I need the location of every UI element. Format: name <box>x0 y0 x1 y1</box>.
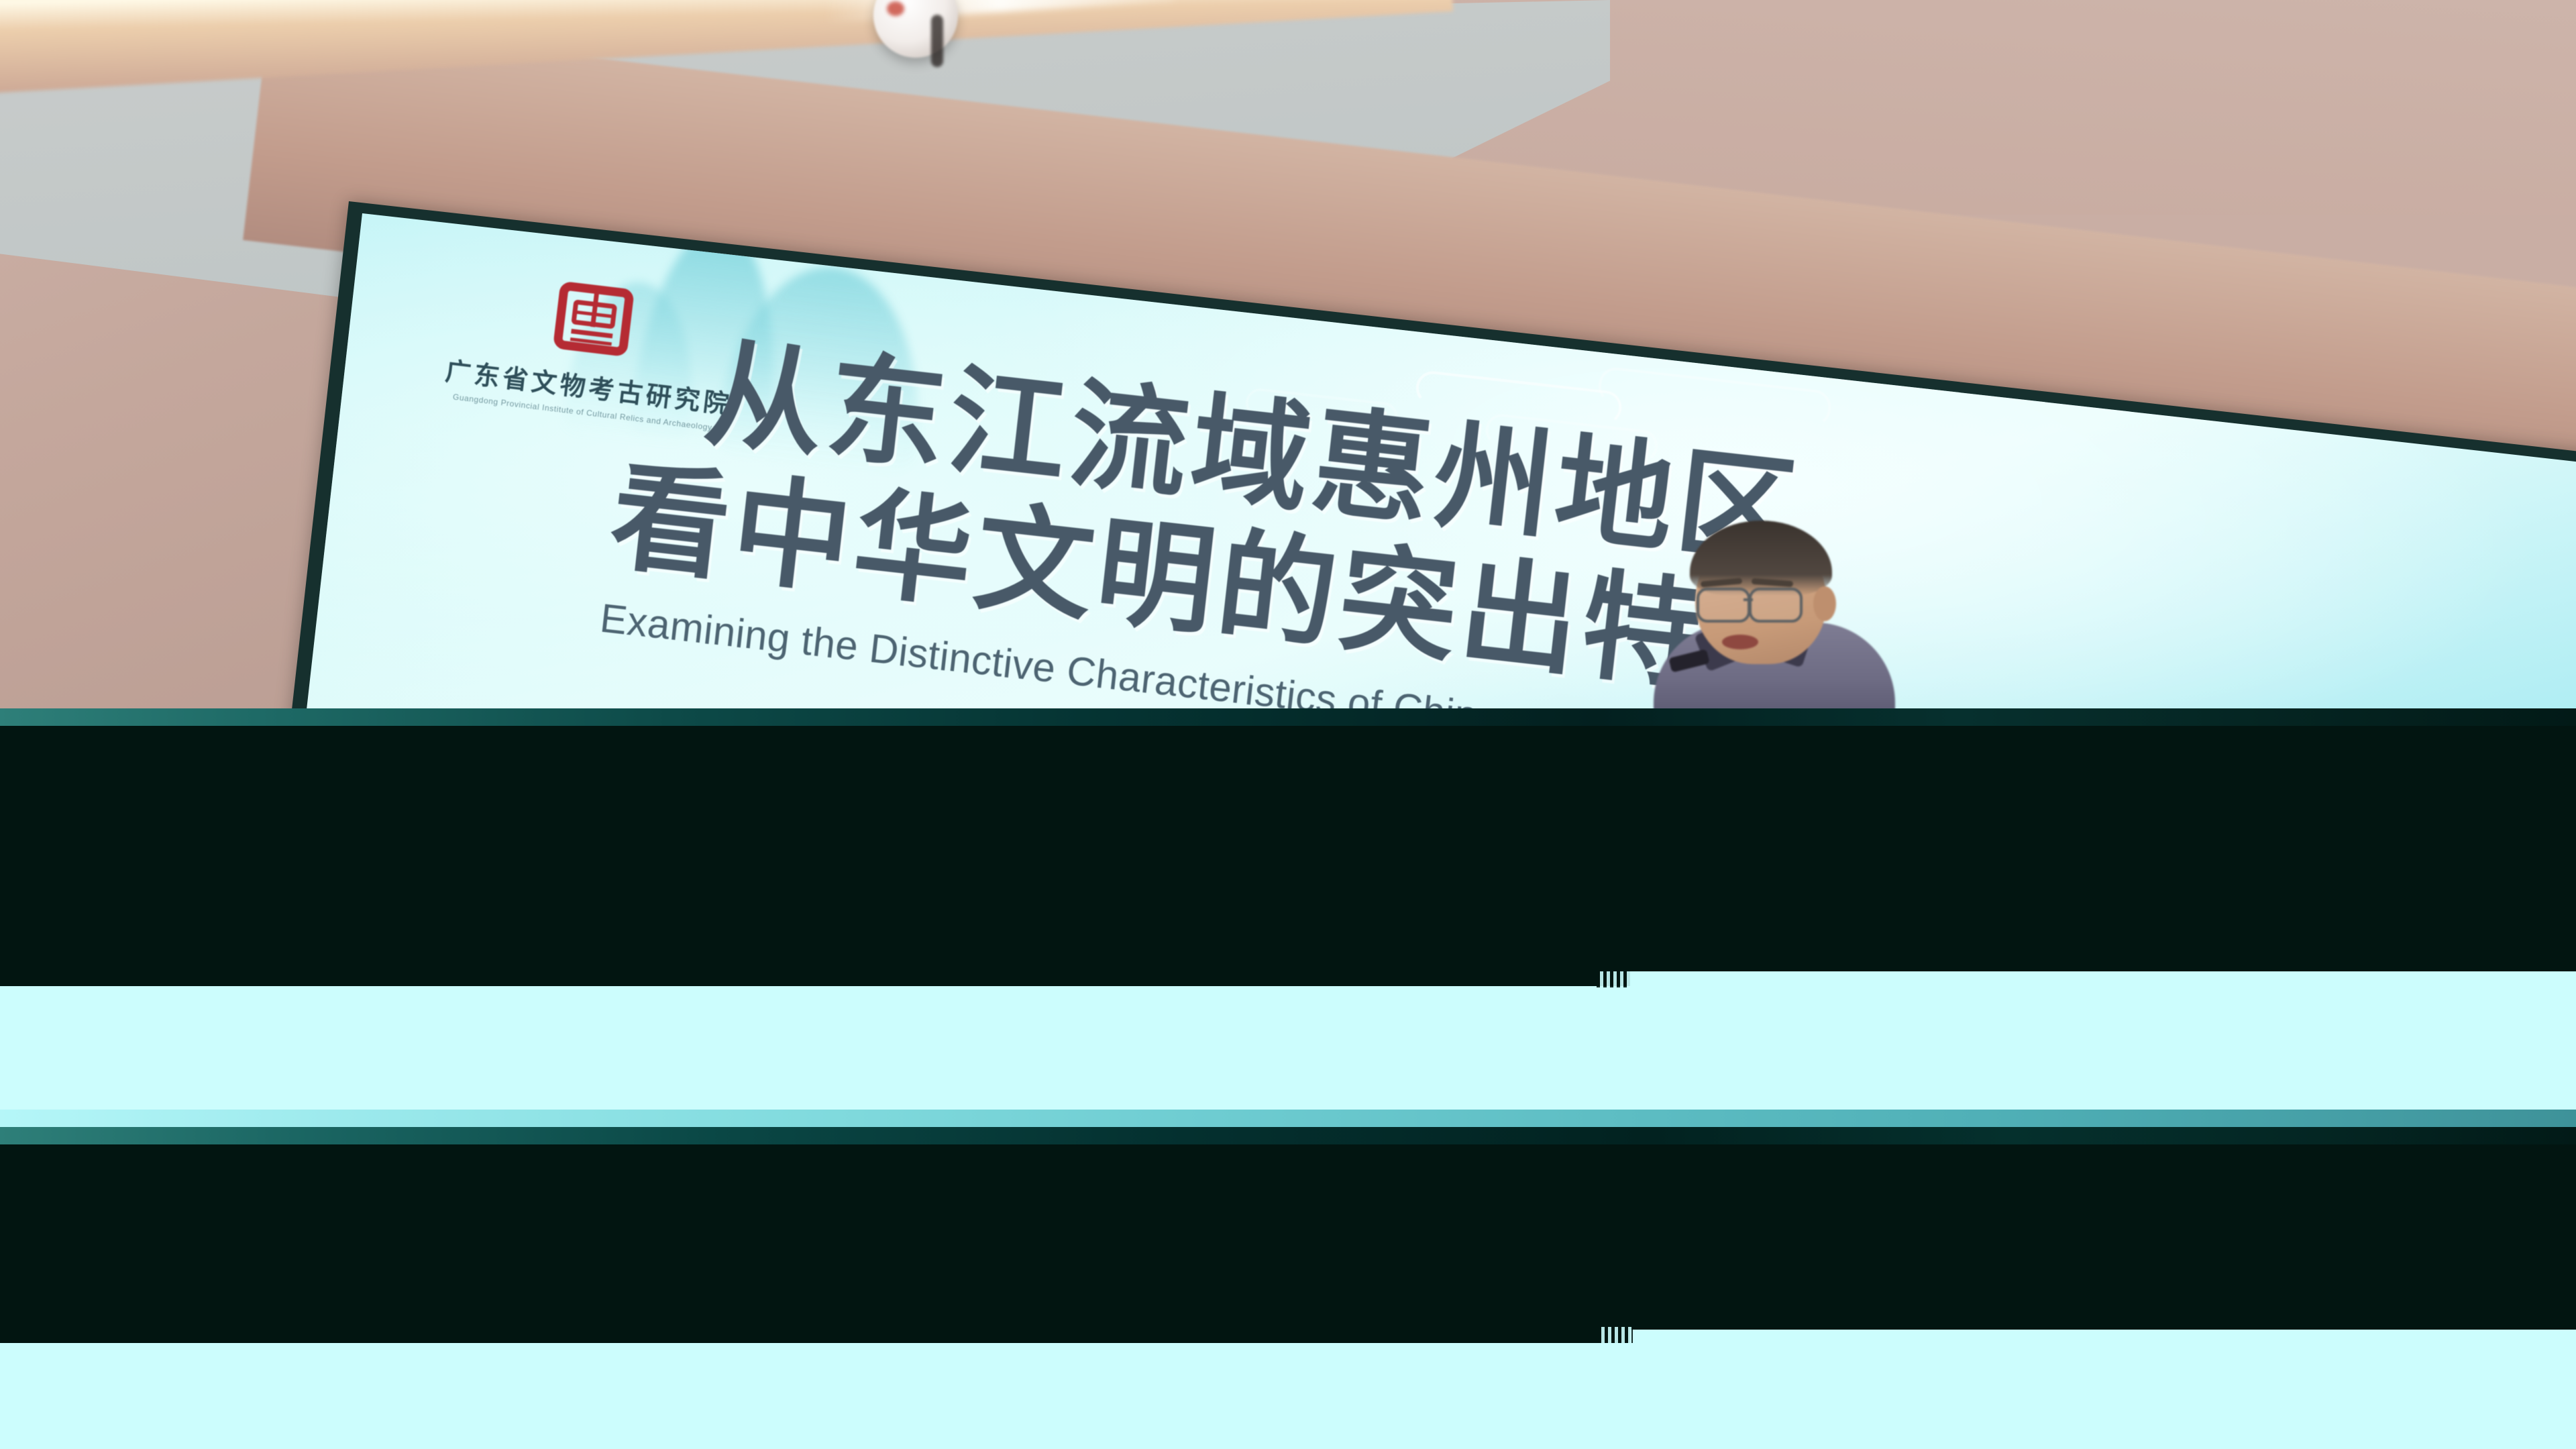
artifact-band-dark <box>0 708 2576 971</box>
speaker-mouth <box>1722 635 1758 649</box>
artifact-dither-step <box>1597 971 1630 987</box>
smoke-detector-led-icon <box>887 1 904 16</box>
artifact-step-notch <box>0 1330 1630 1343</box>
artifact-seam-top <box>0 708 2576 726</box>
eyeglasses-bridge-icon <box>1743 598 1753 601</box>
artifact-seam-mid <box>0 1110 2576 1127</box>
artifact-dither-step <box>1598 1327 1633 1344</box>
artifact-band-cyan <box>0 1343 2576 1449</box>
video-frame-stage: 广东省文物考古研究院 Guangdong Provincial Institut… <box>0 0 2576 1449</box>
speaker-figure <box>1647 510 1909 711</box>
artifact-band-cyan <box>0 971 2576 1127</box>
eyeglasses-icon <box>1697 588 1750 623</box>
conference-photo-region: 广东省文物考古研究院 Guangdong Provincial Institut… <box>0 0 2576 711</box>
artifact-step-notch-cyan <box>1630 1330 2576 1343</box>
cloud-line-motif-icon <box>1597 366 1833 427</box>
smoke-detector-vent-icon <box>931 15 943 67</box>
speaker-ear <box>1813 586 1836 621</box>
artifact-step-notch <box>0 971 1630 986</box>
eyeglasses-icon <box>1749 588 1803 623</box>
artifact-seam-lower <box>0 1127 2576 1144</box>
seal-book-icon <box>549 276 637 364</box>
artifact-band-dark <box>0 1127 2576 1342</box>
